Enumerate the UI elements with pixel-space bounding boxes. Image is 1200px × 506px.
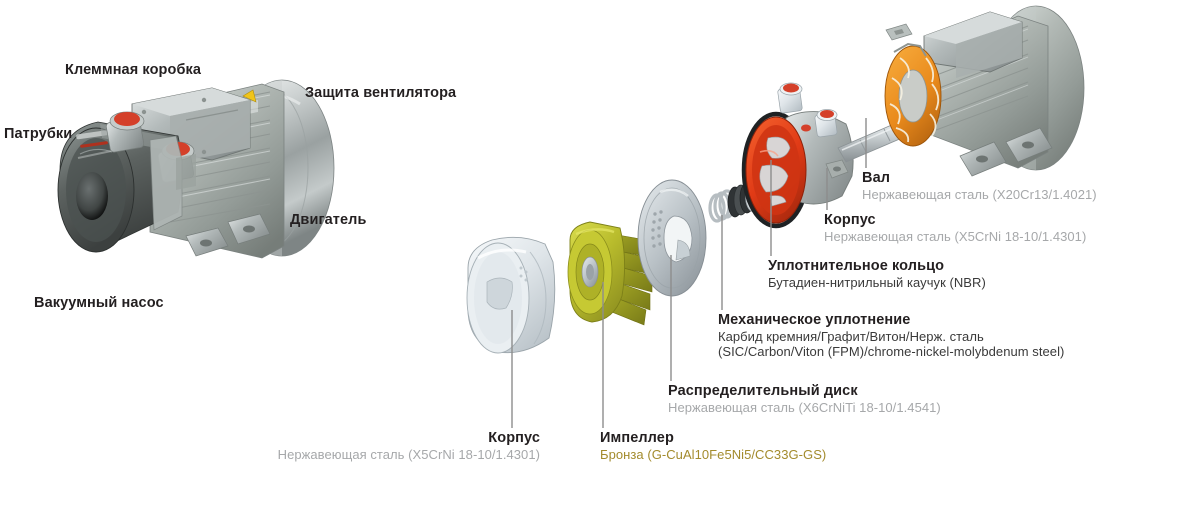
label-body-housing-name: Корпус (0, 430, 540, 447)
label-terminal-box-name: Клеммная коробка (65, 62, 201, 79)
sealing-ring-part (744, 114, 808, 226)
label-mechanical-seal-material: Карбид кремния/Графит/Витон/Нерж. сталь (718, 329, 1064, 344)
label-body-housing-material: Нержавеющая сталь (X5CrNi 18-10/1.4301) (0, 447, 540, 462)
feet-part (186, 214, 270, 256)
assembled-pump-illustration (58, 80, 334, 258)
label-impeller-material: Бронза (G-CuAl10Fe5Ni5/CC33G-GS) (600, 447, 826, 462)
label-mechanical-seal: Механическое уплотнение Карбид кремния/Г… (718, 312, 1064, 360)
label-sealing-ring: Уплотнительное кольцо Бутадиен-нитрильны… (768, 258, 986, 290)
fan-guard-part (228, 80, 334, 256)
label-pump-housing-name: Корпус (824, 212, 1086, 229)
pump-housing-part (746, 83, 853, 223)
label-sealing-ring-name: Уплотнительное кольцо (768, 258, 986, 275)
label-motor: Двигатель (290, 212, 366, 229)
shaft-part (838, 98, 958, 162)
impeller-part (568, 222, 652, 325)
label-pump-housing: Корпус Нержавеющая сталь (X5CrNi 18-10/1… (824, 212, 1086, 244)
label-fan-guard-name: Защита вентилятора (305, 85, 456, 102)
ports-part (106, 112, 195, 183)
label-motor-name: Двигатель (290, 212, 366, 229)
label-shaft-material: Нержавеющая сталь (X20Cr13/1.4021) (862, 187, 1097, 202)
label-sealing-ring-material: Бутадиен-нитрильный каучук (NBR) (768, 275, 986, 290)
exploded-diagram-canvas: Клеммная коробка Патрубки Защита вентиля… (0, 0, 1200, 506)
label-impeller-name: Импеллер (600, 430, 826, 447)
stator-windings (885, 46, 941, 146)
label-impeller: Импеллер Бронза (G-CuAl10Fe5Ni5/CC33G-GS… (600, 430, 826, 462)
label-shaft-name: Вал (862, 170, 1097, 187)
label-distributor-disc: Распределительный диск Нержавеющая сталь… (668, 383, 941, 415)
label-vacuum-pump-name: Вакуумный насос (34, 295, 164, 312)
mechanical-seal-part (710, 181, 761, 222)
label-distributor-disc-material: Нержавеющая сталь (X6CrNiTi 18-10/1.4541… (668, 400, 941, 415)
label-body-housing: Корпус Нержавеющая сталь (X5CrNi 18-10/1… (0, 430, 540, 462)
label-fan-guard: Защита вентилятора (305, 85, 456, 102)
warning-triangle-icon (243, 90, 256, 102)
motor-body-part (150, 84, 284, 258)
label-mechanical-seal-material-2: (SIC/Carbon/Viton (FPM)/chrome-nickel-mo… (718, 344, 1064, 359)
label-ports: Патрубки (4, 126, 72, 143)
distributor-disc-part (638, 180, 706, 296)
motor-part (885, 6, 1084, 176)
label-shaft: Вал Нержавеющая сталь (X20Cr13/1.4021) (862, 170, 1097, 202)
label-ports-name: Патрубки (4, 126, 72, 143)
body-housing-part (467, 237, 555, 353)
terminal-box-part (132, 88, 250, 164)
vacuum-pump-body-part (58, 122, 182, 252)
label-mechanical-seal-name: Механическое уплотнение (718, 312, 1064, 329)
pump-motor-adapter (150, 136, 196, 230)
label-pump-housing-material: Нержавеющая сталь (X5CrNi 18-10/1.4301) (824, 229, 1086, 244)
label-vacuum-pump: Вакуумный насос (34, 295, 164, 312)
label-terminal-box: Клеммная коробка (65, 62, 201, 79)
label-distributor-disc-name: Распределительный диск (668, 383, 941, 400)
